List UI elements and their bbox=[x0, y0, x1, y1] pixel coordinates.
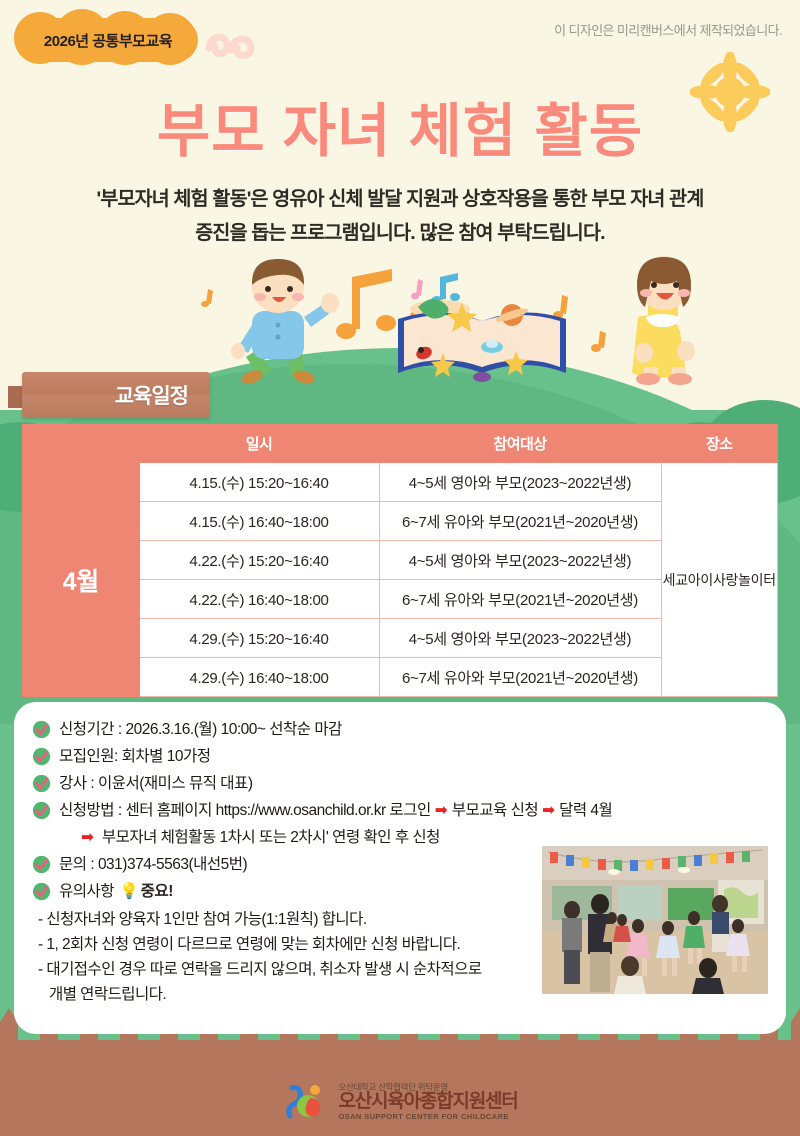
who-cell: 6~7세 유아와 부모(2021년~2020년생) bbox=[379, 502, 661, 541]
when-cell: 4.29.(수) 15:20~16:40 bbox=[139, 619, 379, 658]
when-cell: 4.15.(수) 15:20~16:40 bbox=[139, 463, 379, 502]
music-note-icon bbox=[201, 289, 213, 307]
lightbulb-icon: 💡 bbox=[120, 883, 139, 900]
note-line: - 1, 2회차 신청 연령이 다르므로 연령에 맞는 회차에만 신청 바랍니다… bbox=[32, 932, 562, 957]
boy-figure bbox=[231, 259, 339, 385]
check-icon bbox=[32, 801, 51, 820]
check-icon bbox=[32, 720, 51, 739]
poster-root: 2026년 공통부모교육 이 디자인은 미리캔버스에서 제작되었습니다. 부모 … bbox=[0, 0, 800, 1136]
center-logo-icon bbox=[282, 1082, 330, 1122]
apply-method-pre: 신청방법 : 센터 홈페이지 https://www.osanchild.or.… bbox=[59, 802, 431, 819]
check-icon bbox=[32, 774, 51, 793]
when-cell: 4.22.(수) 15:20~16:40 bbox=[139, 541, 379, 580]
subtitle-line-2: 증진을 돕는 프로그램입니다. 많은 참여 부탁드립니다. bbox=[40, 216, 760, 250]
info-apply-method-text: 신청방법 : 센터 홈페이지 https://www.osanchild.or.… bbox=[59, 799, 768, 823]
who-cell: 4~5세 영아와 부모(2023~2022년생) bbox=[379, 619, 661, 658]
note-line: - 대기접수인 경우 따로 연락을 드리지 않으며, 취소자 발생 시 순차적으… bbox=[32, 957, 562, 982]
table-row: 4월 4.15.(수) 15:20~16:40 4~5세 영아와 부모(2023… bbox=[23, 463, 778, 502]
who-cell: 4~5세 영아와 부모(2023~2022년생) bbox=[379, 463, 661, 502]
apply-step-1: 부모교육 신청 bbox=[452, 802, 538, 819]
info-capacity-text: 모집인원: 회차별 10가정 bbox=[59, 745, 768, 769]
squiggle-icon bbox=[205, 28, 269, 62]
header-who: 참여대상 bbox=[379, 425, 661, 463]
footer-logo-sub: OSAN SUPPORT CENTER FOR CHILDCARE bbox=[338, 1113, 517, 1121]
music-note-icon bbox=[411, 279, 423, 299]
right-arrow-icon: ➡ bbox=[435, 802, 448, 819]
classroom-photo-illustration bbox=[542, 846, 768, 994]
page-title: 부모 자녀 체험 활동 bbox=[0, 84, 800, 168]
info-list: 신청기간 : 2026.3.16.(월) 10:00~ 선착순 마감 모집인원:… bbox=[32, 718, 768, 823]
header-place: 장소 bbox=[661, 425, 778, 463]
page-subtitle: '부모자녀 체험 활동'은 영유아 신체 발달 지원과 상호작용을 통한 부모 … bbox=[40, 182, 760, 250]
info-instructor-text: 강사 : 이윤서(재미스 뮤직 대표) bbox=[59, 772, 768, 796]
who-cell: 4~5세 영아와 부모(2023~2022년생) bbox=[379, 541, 661, 580]
info-period-text: 신청기간 : 2026.3.16.(월) 10:00~ 선착순 마감 bbox=[59, 718, 768, 742]
footer-logo-text: 오산대학교 산학협력단 위탁운영 오산시육아종합지원센터 OSAN SUPPOR… bbox=[338, 1083, 517, 1121]
when-cell: 4.15.(수) 16:40~18:00 bbox=[139, 502, 379, 541]
girl-figure bbox=[632, 256, 695, 385]
header-month bbox=[23, 425, 140, 463]
apply-step-2: 달력 4월 bbox=[559, 802, 612, 819]
footer-logo: 오산대학교 산학협력단 위탁운영 오산시육아종합지원센터 OSAN SUPPOR… bbox=[0, 1082, 800, 1122]
schedule-table: 일시 참여대상 장소 4월 4.15.(수) 15:20~16:40 4~5세 … bbox=[22, 424, 778, 697]
design-credit: 이 디자인은 미리캔버스에서 제작되었습니다. bbox=[554, 20, 782, 39]
schedule-sign: 교육일정 bbox=[22, 372, 210, 418]
table-header-row: 일시 참여대상 장소 bbox=[23, 425, 778, 463]
month-cell: 4월 bbox=[23, 463, 140, 697]
who-cell: 6~7세 유아와 부모(2021년~2020년생) bbox=[379, 580, 661, 619]
check-icon bbox=[32, 855, 51, 874]
subtitle-line-1: '부모자녀 체험 활동'은 영유아 신체 발달 지원과 상호작용을 통한 부모 … bbox=[40, 182, 760, 216]
apply-step-3: 부모자녀 체험활동 1차시 또는 2차시' 연령 확인 후 신청 bbox=[102, 829, 440, 846]
schedule-table-body: 4월 4.15.(수) 15:20~16:40 4~5세 영아와 부모(2023… bbox=[23, 463, 778, 697]
double-music-note-icon bbox=[336, 269, 396, 339]
footer-logo-main: 오산시육아종합지원센터 bbox=[338, 1092, 517, 1113]
schedule-sign-label: 교육일정 bbox=[115, 380, 188, 410]
header-when: 일시 bbox=[139, 425, 379, 463]
info-item-capacity: 모집인원: 회차별 10가정 bbox=[32, 745, 768, 769]
check-icon bbox=[32, 882, 51, 901]
caution-emphasis: 중요! bbox=[141, 883, 173, 900]
info-item-period: 신청기간 : 2026.3.16.(월) 10:00~ 선착순 마감 bbox=[32, 718, 768, 742]
badge-label: 2026년 공통부모교육 bbox=[18, 18, 198, 62]
year-badge: 2026년 공통부모교육 bbox=[18, 18, 198, 62]
music-note-icon bbox=[591, 331, 606, 352]
place-cell: 세교아이사랑놀이터 bbox=[661, 463, 778, 697]
note-line: - 신청자녀와 양육자 1인만 참여 가능(1:1원칙) 합니다. bbox=[32, 907, 562, 932]
open-book-icon bbox=[398, 299, 566, 382]
who-cell: 6~7세 유아와 부모(2021년~2020년생) bbox=[379, 658, 661, 697]
info-item-apply-method: 신청방법 : 센터 홈페이지 https://www.osanchild.or.… bbox=[32, 799, 768, 823]
music-note-icon bbox=[553, 295, 568, 319]
children-illustration bbox=[0, 255, 800, 385]
right-arrow-icon: ➡ bbox=[81, 829, 94, 846]
check-icon bbox=[32, 747, 51, 766]
caution-label: 유의사항 bbox=[59, 883, 114, 900]
right-arrow-icon: ➡ bbox=[542, 802, 555, 819]
info-card: 신청기간 : 2026.3.16.(월) 10:00~ 선착순 마감 모집인원:… bbox=[14, 702, 786, 1034]
when-cell: 4.29.(수) 16:40~18:00 bbox=[139, 658, 379, 697]
when-cell: 4.22.(수) 16:40~18:00 bbox=[139, 580, 379, 619]
activity-photo bbox=[542, 846, 768, 994]
note-line: 개별 연락드립니다. bbox=[32, 982, 562, 1007]
info-item-instructor: 강사 : 이윤서(재미스 뮤직 대표) bbox=[32, 772, 768, 796]
